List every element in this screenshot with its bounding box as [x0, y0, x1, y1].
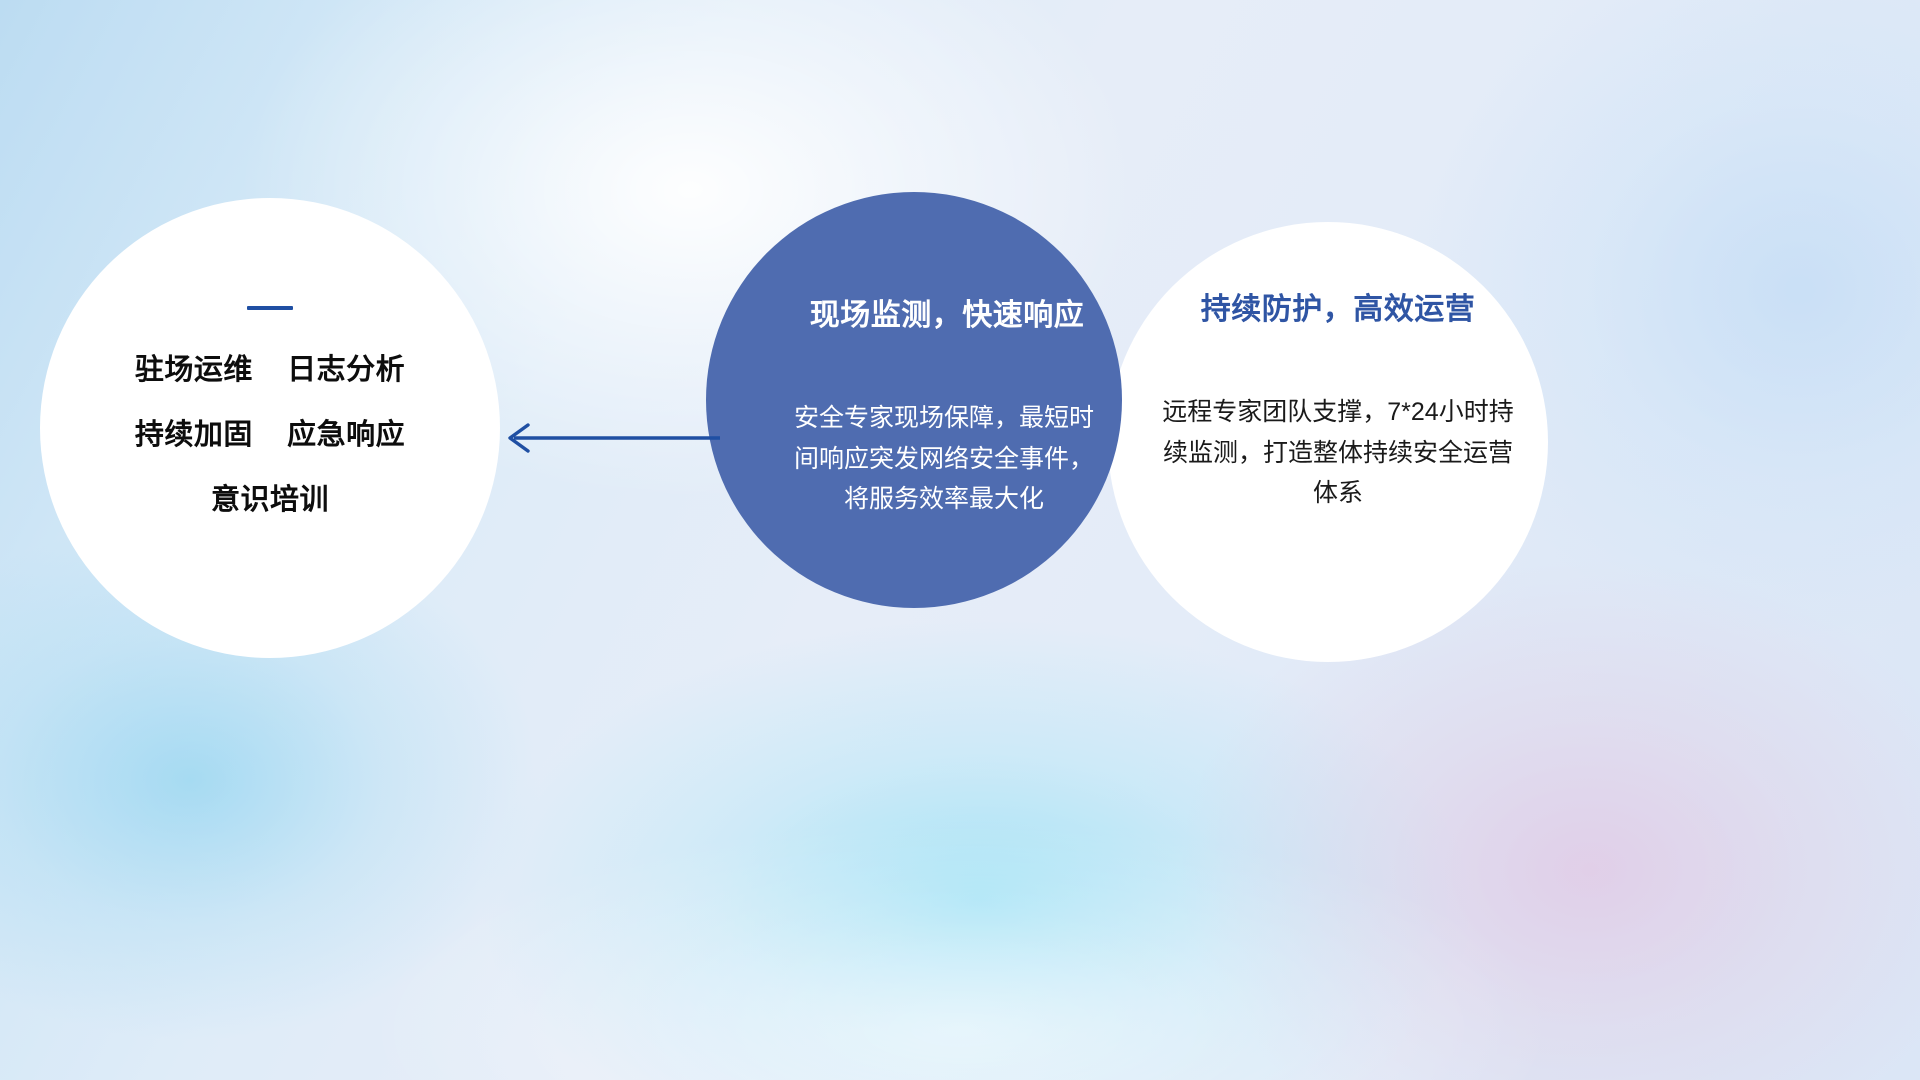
middle-circle-title: 现场监测，快速响应 [794, 290, 1100, 334]
slide-canvas: 驻场运维 日志分析 持续加固 应急响应 意识培训 持续防护，高效运营 远程专家团… [0, 0, 1920, 1080]
right-circle-title: 持续防护，高效运营 [1154, 284, 1522, 328]
keyword-row: 持续加固 应急响应 [40, 421, 500, 450]
right-circle-body: 远程专家团队支撑，7*24小时持续监测，打造整体持续安全运营体系 [1154, 392, 1522, 514]
middle-circle-content: 现场监测，快速响应 安全专家现场保障，最短时间响应突发网络安全事件，将服务效率最… [706, 192, 1122, 608]
background-glow-bottom-center [480, 620, 1480, 1080]
keyword-row: 意识培训 [40, 486, 500, 515]
right-circle-content: 持续防护，高效运营 远程专家团队支撑，7*24小时持续监测，打造整体持续安全运营… [1108, 284, 1548, 514]
left-keywords-circle: 驻场运维 日志分析 持续加固 应急响应 意识培训 [40, 198, 500, 658]
left-arrow-icon [492, 416, 722, 460]
background-glow-bottom-haze [360, 820, 1560, 1080]
left-circle-content: 驻场运维 日志分析 持续加固 应急响应 意识培训 [40, 306, 500, 515]
middle-monitoring-circle: 现场监测，快速响应 安全专家现场保障，最短时间响应突发网络安全事件，将服务效率最… [706, 192, 1122, 608]
keyword-row: 驻场运维 日志分析 [40, 356, 500, 385]
accent-rule-divider [247, 306, 293, 310]
middle-circle-body: 安全专家现场保障，最短时间响应突发网络安全事件，将服务效率最大化 [788, 398, 1100, 520]
right-operations-circle: 持续防护，高效运营 远程专家团队支撑，7*24小时持续监测，打造整体持续安全运营… [1108, 222, 1548, 662]
